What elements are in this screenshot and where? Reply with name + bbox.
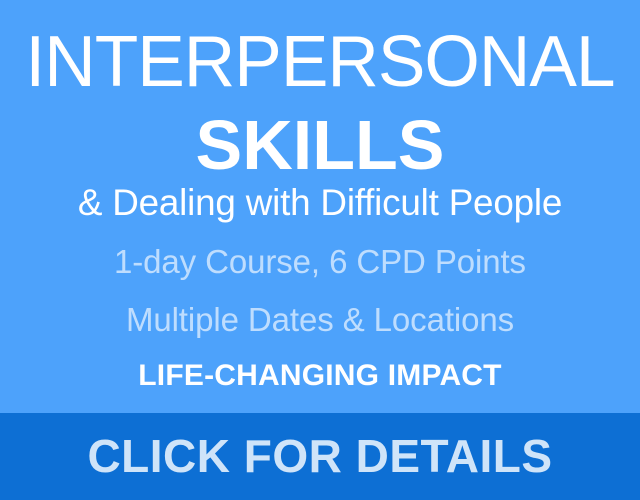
banner-subtitle: & Dealing with Difficult People <box>2 184 639 221</box>
impact-strapline: LIFE-CHANGING IMPACT <box>0 361 640 391</box>
advertisement-banner[interactable]: INTERPERSONAL SKILLS & Dealing with Diff… <box>0 0 640 500</box>
click-for-details-button[interactable]: CLICK FOR DETAILS <box>0 413 640 500</box>
banner-content-area: INTERPERSONAL SKILLS & Dealing with Diff… <box>0 0 640 413</box>
detail-dates-locations: Multiple Dates & Locations <box>0 303 640 336</box>
detail-course-duration: 1-day Course, 6 CPD Points <box>0 245 640 278</box>
cta-label: CLICK FOR DETAILS <box>87 433 552 481</box>
headline-primary: INTERPERSONAL <box>3 26 637 98</box>
headline-secondary: SKILLS <box>0 110 640 180</box>
